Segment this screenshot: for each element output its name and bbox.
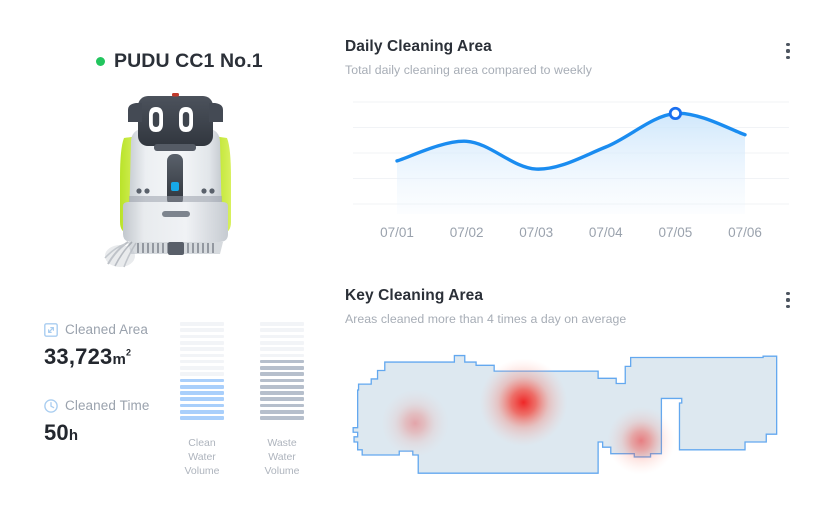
gauge-segment [180, 372, 224, 376]
gauge-segment [260, 347, 304, 351]
metric-value: 33,723m2 [44, 344, 184, 370]
gauge-caption: Waste Water Volume [256, 436, 308, 478]
online-dot-icon [96, 57, 105, 66]
gauge-segment [180, 385, 224, 389]
device-panel: PUDU CC1 No.1 [0, 0, 333, 515]
gauge-segment [260, 385, 304, 389]
cleaning-robot-illustration [98, 82, 253, 272]
gauge-segment [180, 341, 224, 345]
metric-unit: m [113, 351, 127, 368]
gauge-segment [180, 335, 224, 339]
gauge-segment [180, 391, 224, 395]
gauge-segment [260, 416, 304, 420]
clock-icon [44, 399, 58, 413]
chart-highlight-marker [670, 108, 680, 118]
gauge-segment [180, 379, 224, 383]
gauge-segment [260, 360, 304, 364]
key-area-heatmap[interactable] [345, 351, 797, 481]
heatmap-hotspot [480, 358, 568, 446]
gauge-segment [260, 397, 304, 401]
gauge-clean-water: Clean Water Volume [176, 322, 228, 478]
card-title: Daily Cleaning Area [345, 38, 797, 56]
device-header: PUDU CC1 No.1 [96, 50, 263, 73]
card-header: Key Cleaning Area Areas cleaned more tha… [345, 287, 797, 333]
device-name: PUDU CC1 No.1 [114, 50, 263, 73]
dashboard-page: PUDU CC1 No.1 [0, 0, 827, 515]
gauge-segment [180, 360, 224, 364]
gauge-segment [180, 322, 224, 326]
metric-cleaned-time: Cleaned Time 50h [44, 398, 184, 446]
metric-label: Cleaned Area [65, 322, 148, 337]
card-subtitle: Total daily cleaning area compared to we… [345, 63, 797, 78]
gauge-segment [180, 347, 224, 351]
gauge-segment [260, 404, 304, 408]
gauge-segment [260, 379, 304, 383]
x-axis-tick-label: 07/04 [589, 225, 623, 240]
gauge-bars [180, 322, 224, 420]
daily-area-chart[interactable]: 07/0107/0207/0307/0407/0507/06 [345, 94, 797, 244]
area-square-icon [44, 323, 58, 337]
card-key-cleaning-area: Key Cleaning Area Areas cleaned more tha… [345, 287, 797, 481]
charts-panel: Daily Cleaning Area Total daily cleaning… [333, 0, 827, 515]
gauge-segment [180, 328, 224, 332]
gauge-segment [180, 404, 224, 408]
card-header: Daily Cleaning Area Total daily cleaning… [345, 38, 797, 84]
metric-unit-exponent: 2 [126, 348, 131, 358]
gauge-waste-water: Waste Water Volume [256, 322, 308, 478]
gauge-caption: Clean Water Volume [176, 436, 228, 478]
x-axis-tick-label: 07/03 [519, 225, 553, 240]
gauge-segment [260, 328, 304, 332]
gauge-segment [260, 366, 304, 370]
gauge-segment [180, 410, 224, 414]
kebab-menu-icon[interactable] [777, 289, 799, 311]
metric-number: 50 [44, 420, 69, 445]
metric-number: 33,723 [44, 344, 113, 369]
gauge-segment [260, 410, 304, 414]
heatmap-hotspot [381, 389, 449, 457]
card-subtitle: Areas cleaned more than 4 times a day on… [345, 312, 797, 327]
card-title: Key Cleaning Area [345, 287, 797, 305]
gauge-segment [180, 416, 224, 420]
card-daily-cleaning-area: Daily Cleaning Area Total daily cleaning… [345, 38, 797, 244]
chart-x-axis-labels: 07/0107/0207/0307/0407/0507/06 [380, 225, 762, 240]
kebab-menu-icon[interactable] [777, 40, 799, 62]
gauge-segment [260, 354, 304, 358]
water-gauges: Clean Water Volume Waste Water Volume [176, 322, 316, 478]
floorplan-heatmap-svg [345, 351, 797, 481]
x-axis-tick-label: 07/06 [728, 225, 762, 240]
robot-icon [98, 82, 253, 272]
metric-cleaned-area: Cleaned Area 33,723m2 [44, 322, 184, 370]
gauge-bars [260, 322, 304, 420]
gauge-segment [260, 391, 304, 395]
gauge-segment [260, 322, 304, 326]
area-chart-svg: 07/0107/0207/0307/0407/0507/06 [345, 94, 797, 244]
x-axis-tick-label: 07/05 [659, 225, 693, 240]
gauge-segment [260, 335, 304, 339]
metric-value: 50h [44, 420, 184, 446]
gauge-segment [180, 366, 224, 370]
gauge-segment [180, 397, 224, 401]
metric-label: Cleaned Time [65, 398, 150, 413]
device-metrics: Cleaned Area 33,723m2 Cleaned Time 50h [44, 322, 184, 474]
x-axis-tick-label: 07/01 [380, 225, 414, 240]
heatmap-hotspot [607, 407, 675, 475]
metric-unit: h [69, 427, 78, 444]
x-axis-tick-label: 07/02 [450, 225, 484, 240]
gauge-segment [260, 372, 304, 376]
gauge-segment [180, 354, 224, 358]
gauge-segment [260, 341, 304, 345]
